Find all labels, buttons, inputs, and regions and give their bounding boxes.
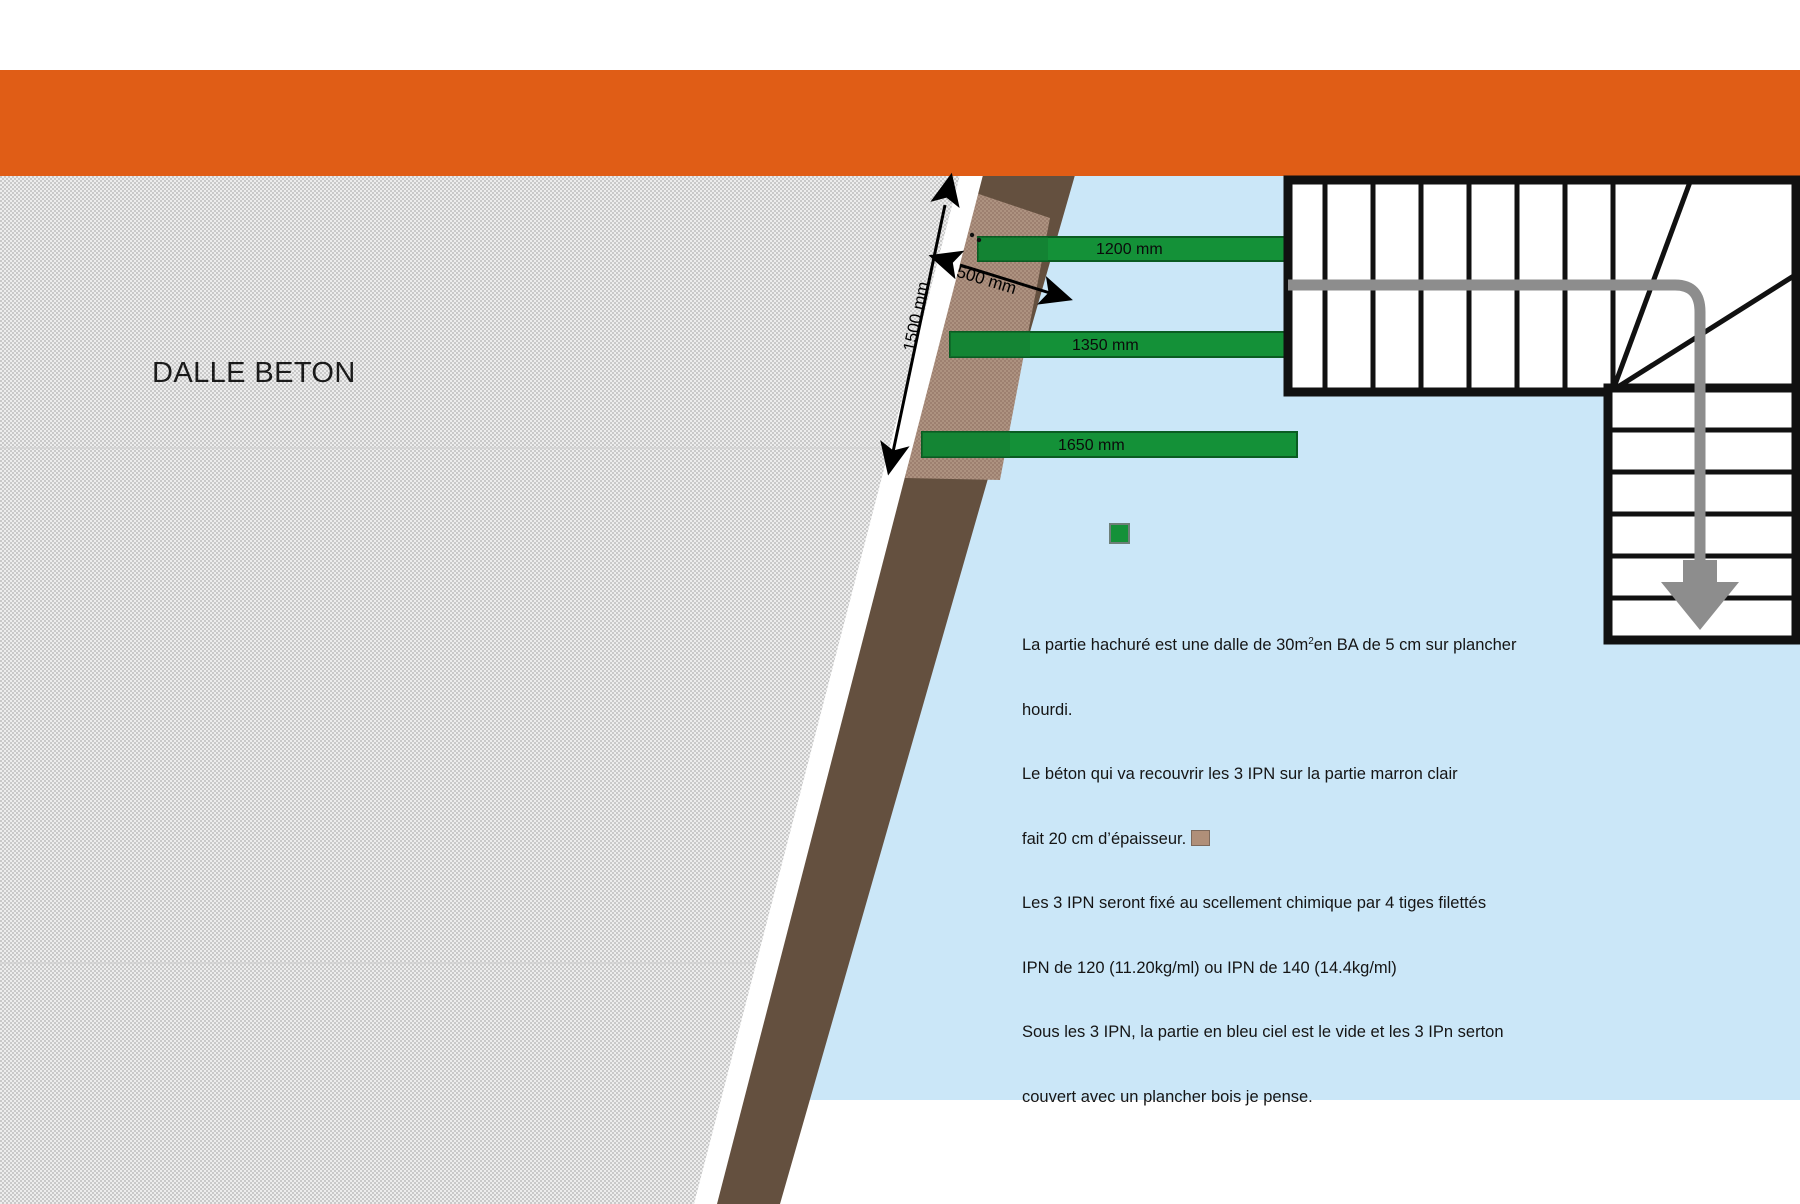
page-title-dalle-beton: DALLE BETON — [152, 357, 356, 390]
note-line-6: IPN de 120 (11.20kg/ml) ou IPN de 140 (1… — [1022, 958, 1474, 980]
note-line-2: hourdi. — [1022, 700, 1474, 722]
legend-brown-swatch — [1191, 830, 1210, 846]
beam-label-1200mm: 1200 mm — [1096, 241, 1163, 259]
drawing-canvas: DALLE BETON 1200 mm 1350 mm 1650 mm 1500… — [0, 0, 1800, 1204]
note-line-1: La partie hachuré est une dalle de 30m2e… — [1022, 635, 1474, 657]
note-line-7: Sous les 3 IPN, la partie en bleu ciel e… — [1022, 1022, 1474, 1044]
beam-label-1650mm: 1650 mm — [1058, 437, 1125, 455]
notes-text-block: La partie hachuré est une dalle de 30m2e… — [1022, 592, 1474, 1151]
note-line-8: couvert avec un plancher bois je pense. — [1022, 1087, 1474, 1109]
note-line-3: Le béton qui va recouvrir les 3 IPN sur … — [1022, 764, 1474, 786]
floor-plan-drawing — [0, 0, 1800, 1204]
orange-header-band — [0, 70, 1800, 176]
legend-green-square — [1110, 524, 1129, 543]
beam-label-1350mm: 1350 mm — [1072, 337, 1139, 355]
note-line-5: Les 3 IPN seront fixé au scellement chim… — [1022, 893, 1474, 915]
note-line-4: fait 20 cm d’épaisseur. — [1022, 829, 1474, 851]
